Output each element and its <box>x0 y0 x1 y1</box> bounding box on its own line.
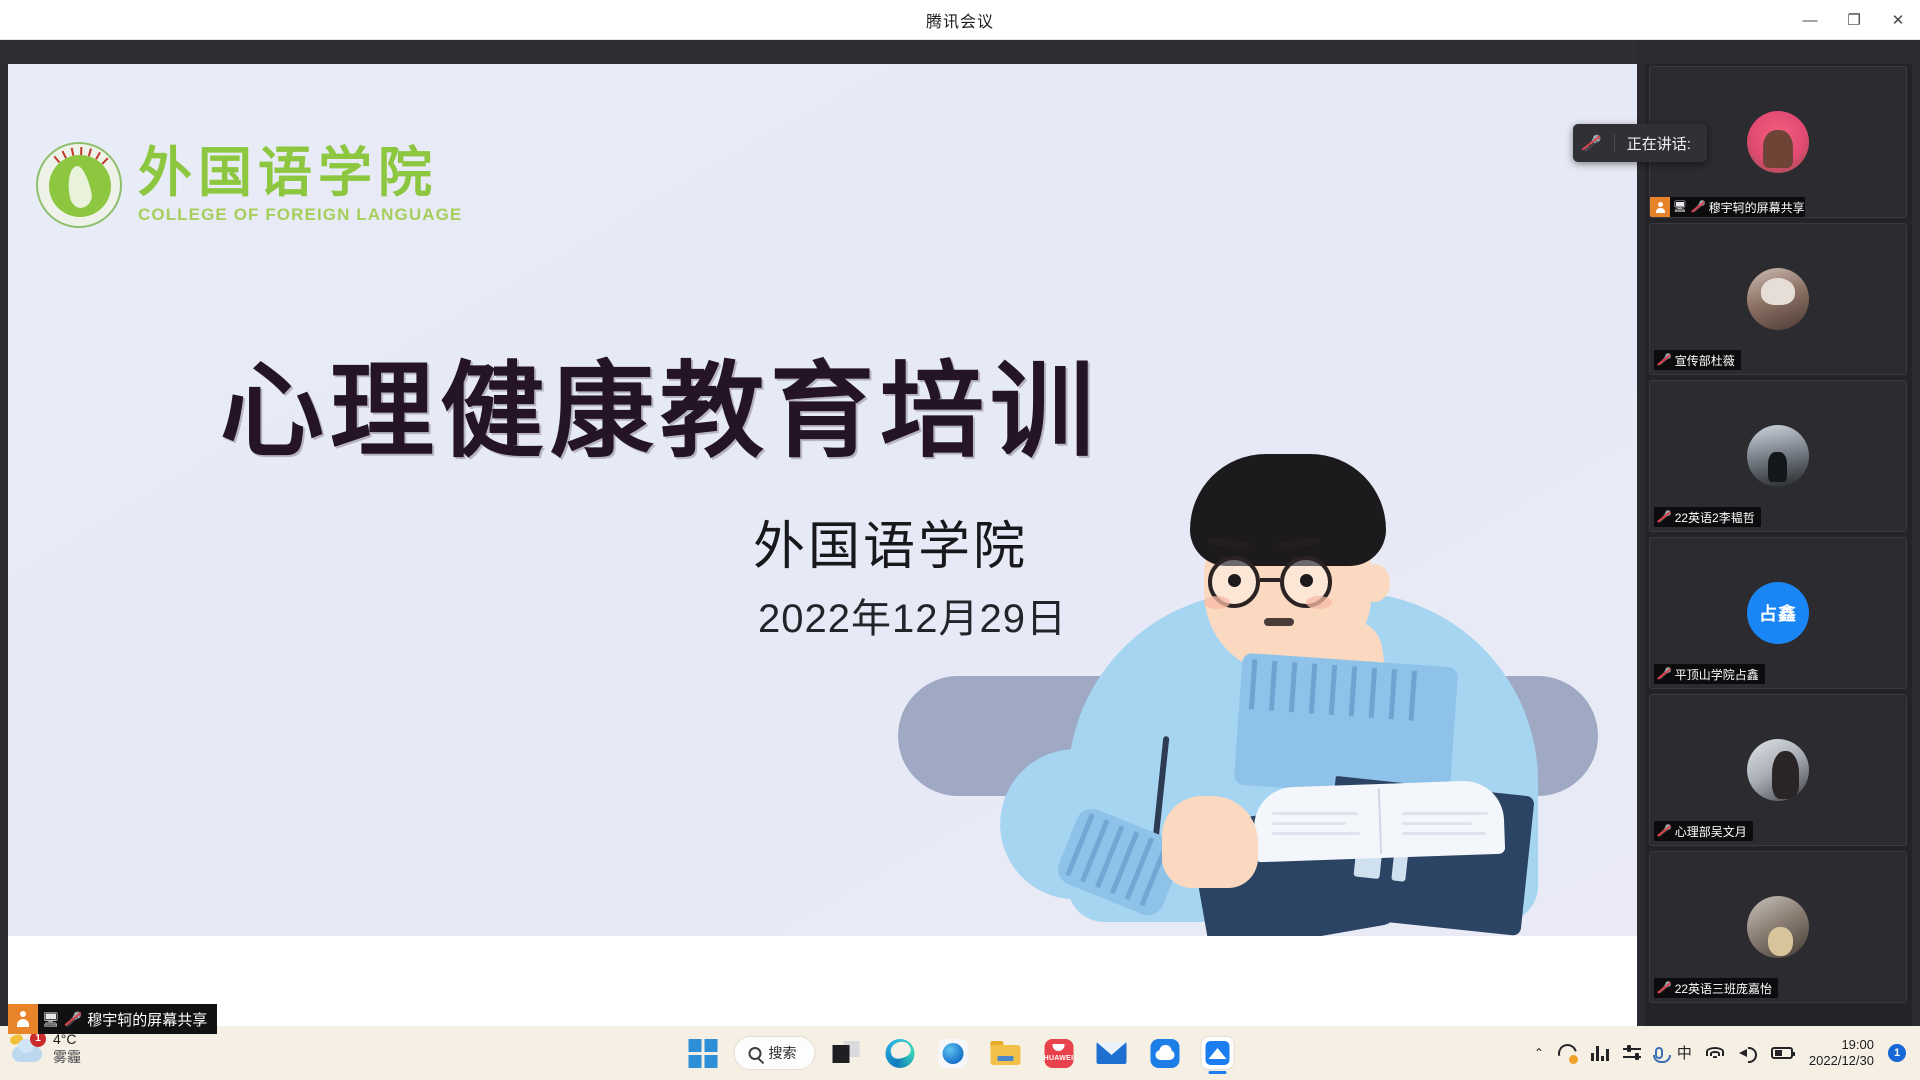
participant-video-rail[interactable]: 🖥 🎤 穆宇轲的屏幕共享 🎤 宣传部杜薇 🎤 22英语2李韫哲 占鑫 <box>1645 64 1912 1026</box>
windows-taskbar: 1 4°C 雾霾 搜索 HUAWEI <box>0 1026 1920 1080</box>
participant-tile-5[interactable]: 🎤 22英语三班庞嘉怡 <box>1649 851 1907 1003</box>
search-button[interactable]: 搜索 <box>734 1036 816 1070</box>
participant-tile-4[interactable]: 🎤 心理部吴文月 <box>1649 694 1907 846</box>
file-explorer-button[interactable] <box>984 1031 1028 1075</box>
participant-name-bar: 🎤 平顶山学院占鑫 <box>1654 664 1765 684</box>
system-tray: ⌃ 中 19:00 2022/12/30 1 <box>1534 1026 1912 1080</box>
illustration-eye-left <box>1228 574 1241 587</box>
illustration-eye-right <box>1300 574 1313 587</box>
participant-name-bar: 🎤 22英语三班庞嘉怡 <box>1654 978 1778 998</box>
cloud-button[interactable] <box>1143 1031 1187 1075</box>
search-label: 搜索 <box>769 1043 797 1063</box>
window-title: 腾讯会议 <box>926 8 994 32</box>
shared-screen-stage[interactable]: 外国语学院 COLLEGE OF FOREIGN LANGUAGE 心理健康教育… <box>8 64 1637 1034</box>
participant-name: 心理部吴文月 <box>1675 823 1747 840</box>
participant-name-bar: 🎤 宣传部杜薇 <box>1654 350 1741 370</box>
now-speaking-label: 正在讲话: <box>1627 133 1691 154</box>
logo-english-name: COLLEGE OF FOREIGN LANGUAGE <box>138 205 462 225</box>
host-badge-icon <box>1650 197 1670 217</box>
participant-name: 平顶山学院占鑫 <box>1675 666 1759 683</box>
mic-muted-icon: 🎤 <box>1658 983 1672 994</box>
illustration-cheek-left <box>1204 596 1230 609</box>
screen-share-icon: 🖥 <box>42 1012 60 1026</box>
mic-muted-icon: 🎤 <box>1658 512 1672 523</box>
sync-status-icon[interactable] <box>1558 1044 1577 1063</box>
weather-text: 4°C 雾霾 <box>53 1031 81 1066</box>
weather-widget[interactable]: 1 4°C 雾霾 <box>10 1031 81 1066</box>
avatar: 占鑫 <box>1747 582 1809 644</box>
weather-icon: 1 <box>10 1034 44 1064</box>
microphone-icon[interactable] <box>1655 1047 1663 1059</box>
clock[interactable]: 19:00 2022/12/30 <box>1809 1037 1874 1068</box>
logo-chinese-name: 外国语学院 <box>138 145 462 201</box>
tencent-meeting-icon <box>1201 1036 1235 1070</box>
participant-tile-2[interactable]: 🎤 22英语2李韫哲 <box>1649 380 1907 532</box>
university-seal-icon <box>36 142 122 228</box>
share-top-strip <box>0 40 1637 64</box>
participant-name: 22英语三班庞嘉怡 <box>1675 980 1772 997</box>
battery-icon[interactable] <box>1771 1047 1793 1059</box>
seal-ticks <box>38 144 120 226</box>
logo-text-block: 外国语学院 COLLEGE OF FOREIGN LANGUAGE <box>138 145 462 225</box>
student-reading-illustration <box>908 444 1628 936</box>
avatar <box>1747 268 1809 330</box>
presenter-name: 穆宇轲的屏幕共享 <box>85 1009 217 1030</box>
mic-muted-icon: 🎤 <box>1658 355 1672 366</box>
edge-button[interactable] <box>878 1031 922 1075</box>
participant-name: 22英语2李韫哲 <box>1675 509 1755 526</box>
task-view-icon <box>833 1041 861 1065</box>
window-title-bar: 腾讯会议 — ❐ ✕ <box>0 0 1920 40</box>
folder-icon <box>991 1041 1021 1065</box>
participant-tile-3[interactable]: 占鑫 🎤 平顶山学院占鑫 <box>1649 537 1907 689</box>
equalizer-icon[interactable] <box>1591 1046 1609 1061</box>
huawei-button[interactable]: HUAWEI <box>1037 1031 1081 1075</box>
screen-share-presenter-bar: 🖥 🎤 穆宇轲的屏幕共享 <box>8 1004 217 1034</box>
mic-muted-icon: 🎤 <box>1658 826 1672 837</box>
search-icon <box>749 1047 762 1060</box>
avatar-initials: 占鑫 <box>1759 600 1797 626</box>
mic-muted-icon: 🎤 <box>1583 136 1602 151</box>
weather-condition: 雾霾 <box>53 1049 81 1067</box>
browser-button[interactable] <box>931 1031 975 1075</box>
participant-tile-1[interactable]: 🎤 宣传部杜薇 <box>1649 223 1907 375</box>
close-button[interactable]: ✕ <box>1876 0 1920 40</box>
start-button[interactable] <box>681 1031 725 1075</box>
participant-name-bar: 🎤 心理部吴文月 <box>1654 821 1753 841</box>
participant-name-bar: 🎤 22英语2李韫哲 <box>1654 507 1761 527</box>
maximize-button[interactable]: ❐ <box>1832 0 1876 40</box>
clock-time: 19:00 <box>1809 1037 1874 1053</box>
audio-settings-icon[interactable] <box>1623 1046 1641 1060</box>
taskbar-app-row: 搜索 HUAWEI <box>681 1029 1240 1077</box>
windows-logo-icon <box>688 1039 717 1068</box>
mic-muted-icon: 🎤 <box>65 1011 82 1028</box>
participant-name: 穆宇轲的屏幕共享 <box>1709 199 1805 216</box>
college-logo: 外国语学院 COLLEGE OF FOREIGN LANGUAGE <box>36 142 462 228</box>
avatar <box>1747 425 1809 487</box>
avatar <box>1747 896 1809 958</box>
notification-badge[interactable]: 1 <box>1888 1044 1906 1062</box>
illustration-ear <box>1360 564 1390 602</box>
task-view-button[interactable] <box>825 1031 869 1075</box>
wifi-icon[interactable] <box>1706 1046 1725 1060</box>
divider <box>1614 134 1615 152</box>
cloud-drive-icon <box>1150 1039 1179 1068</box>
show-hidden-icons-button[interactable]: ⌃ <box>1534 1047 1544 1059</box>
mic-muted-icon: 🎤 <box>1658 669 1672 680</box>
presentation-slide: 外国语学院 COLLEGE OF FOREIGN LANGUAGE 心理健康教育… <box>8 64 1637 936</box>
mail-icon <box>1097 1042 1127 1064</box>
screen-share-icon: 🖥 <box>1673 202 1687 213</box>
now-speaking-toast: 🎤 正在讲话: <box>1573 124 1707 162</box>
participant-name: 宣传部杜薇 <box>1675 352 1735 369</box>
avatar <box>1747 739 1809 801</box>
cloud-icon <box>12 1046 42 1062</box>
illustration-cheek-right <box>1306 596 1332 609</box>
edge-icon <box>885 1039 914 1068</box>
mic-muted-icon: 🎤 <box>1692 202 1706 213</box>
minimize-button[interactable]: — <box>1788 0 1832 40</box>
illustration-mouth <box>1264 618 1294 626</box>
illustration-glasses-bridge <box>1260 578 1280 582</box>
clock-date: 2022/12/30 <box>1809 1053 1874 1069</box>
meeting-window-body: 外国语学院 COLLEGE OF FOREIGN LANGUAGE 心理健康教育… <box>0 40 1920 1026</box>
avatar <box>1747 111 1809 173</box>
globe-icon <box>938 1039 967 1068</box>
illustration-hand <box>1162 796 1258 888</box>
host-badge-icon <box>8 1004 38 1034</box>
illustration-hair <box>1190 454 1386 566</box>
illustration-page-lines <box>1266 796 1496 852</box>
tencent-meeting-button[interactable] <box>1196 1031 1240 1075</box>
participant-name-bar: 🖥 🎤 穆宇轲的屏幕共享 <box>1650 197 1805 217</box>
ime-indicator[interactable]: 中 <box>1677 1046 1692 1061</box>
huawei-icon: HUAWEI <box>1044 1039 1073 1068</box>
mail-button[interactable] <box>1090 1031 1134 1075</box>
huawei-label: HUAWEI <box>1044 1055 1074 1062</box>
window-controls: — ❐ ✕ <box>1788 0 1920 40</box>
volume-icon[interactable] <box>1739 1046 1757 1060</box>
